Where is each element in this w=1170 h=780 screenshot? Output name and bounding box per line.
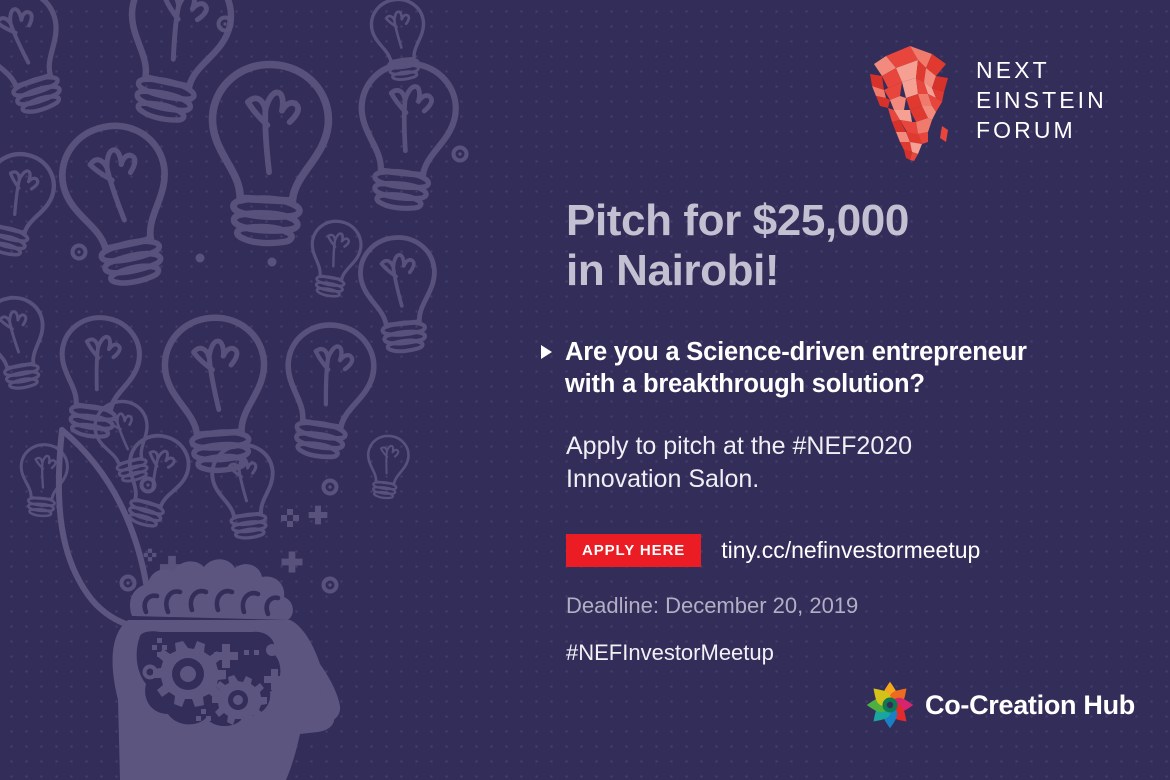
subhead-line-1: Are you a Science-driven entrepreneur (565, 338, 1027, 366)
cocreation-hub-logo: Co-Creation Hub (864, 679, 1135, 731)
lightbulb-head-illustration (0, 0, 470, 780)
hashtag-text: #NEFInvestorMeetup (566, 642, 1126, 664)
nef-wordmark-line-1: NEXT (976, 59, 1107, 82)
triangle-bullet-icon (541, 345, 552, 359)
nef-wordmark-line-2: EINSTEIN (976, 89, 1107, 112)
cta-row: APPLY HERE tiny.cc/nefinvestormeetup (566, 534, 1126, 567)
subhead-line-2: with a breakthrough solution? (565, 368, 1027, 400)
body-copy-line-1: Apply to pitch at the #NEF2020 (566, 432, 912, 460)
nef-wordmark-line-3: FORUM (976, 119, 1107, 142)
nef-logo: NEXT EINSTEIN FORUM (866, 33, 1112, 163)
body-copy: Apply to pitch at the #NEF2020 Innovatio… (566, 430, 1126, 496)
cchub-wordmark: Co-Creation Hub (925, 692, 1135, 719)
nef-wordmark: NEXT EINSTEIN FORUM (976, 55, 1107, 142)
main-copy-block: Pitch for $25,000 in Nairobi! Are you a … (566, 196, 1126, 664)
deadline-text: Deadline: December 20, 2019 (566, 595, 1126, 617)
apply-url-link[interactable]: tiny.cc/nefinvestormeetup (721, 539, 980, 562)
cchub-flower-icon (864, 679, 916, 731)
body-copy-line-2: Innovation Salon. (566, 463, 1126, 496)
apply-here-button[interactable]: APPLY HERE (566, 534, 701, 567)
subhead-row: Are you a Science-driven entrepreneur wi… (541, 336, 1126, 400)
headline-line-2: in Nairobi! (566, 246, 1126, 296)
headline-line-1: Pitch for $25,000 (566, 196, 909, 245)
poster-canvas: NEXT EINSTEIN FORUM Pitch for $25,000 in… (0, 0, 1170, 780)
page-title: Pitch for $25,000 in Nairobi! (566, 196, 1126, 296)
africa-map-lowpoly-icon (866, 34, 962, 162)
subhead: Are you a Science-driven entrepreneur wi… (565, 336, 1027, 400)
